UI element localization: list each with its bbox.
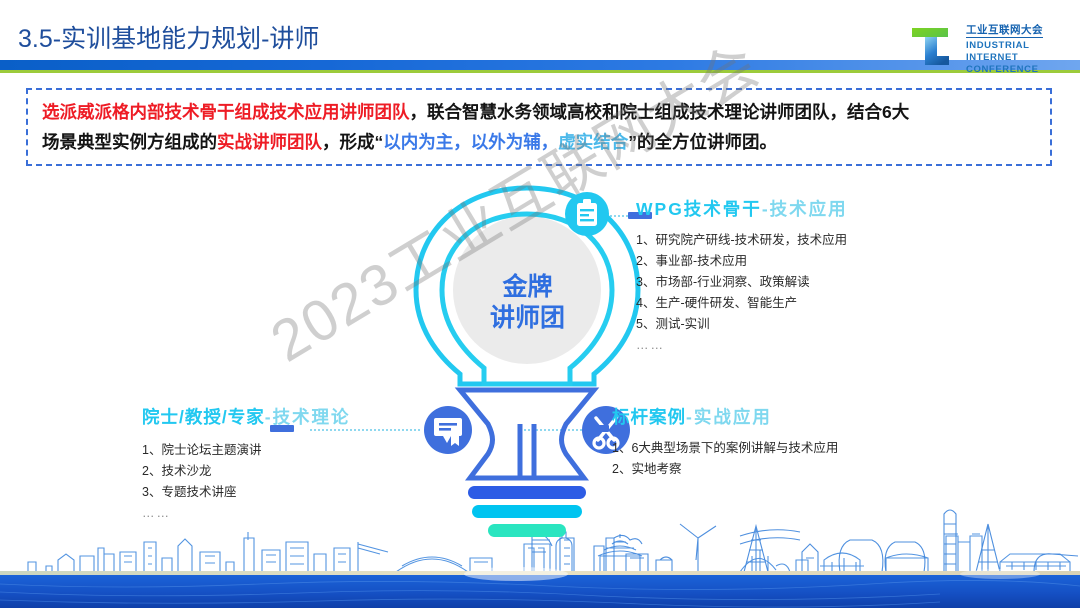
list-item: 1、6大典型场景下的案例讲解与技术应用 (612, 438, 838, 459)
list-ellipsis: …… (142, 503, 351, 524)
lightbulb-illustration (398, 178, 656, 538)
callout-text-run-4: 虚实结合 (558, 132, 628, 152)
section-expert-subtitle: 技术理论 (273, 407, 351, 427)
logo-text-block: 工业互联网大会 INDUSTRIAL INTERNET CONFERENCE (966, 20, 1043, 75)
list-ellipsis: …… (636, 335, 848, 356)
section-case-title: 标杆案例 (612, 407, 686, 427)
section-expert-list: 1、院士论坛主题演讲 2、技术沙龙 3、专题技术讲座 …… (142, 440, 351, 524)
callout-text-run-1: 实战讲师团队 (217, 132, 322, 152)
bulb-label-line-2: 讲师团 (455, 303, 600, 334)
certificate-ribbon-icon-node (424, 406, 472, 454)
slide-canvas: 3.5-实训基地能力规划-讲师 (0, 0, 1080, 608)
callout-text-run-0: 选派威派格内部技术骨干组成技术应用讲师团队 (42, 102, 410, 122)
section-wpg-subtitle: 技术应用 (770, 199, 848, 219)
callout-text-run-0: 场景典型实例方组成的 (42, 132, 217, 152)
section-wpg-title: WPG技术骨干 (636, 199, 762, 219)
callout-text-run-2: ，形成“ (322, 132, 383, 152)
section-expert-heading: 院士/教授/专家-技术理论 (142, 404, 351, 429)
section-case-list: 1、6大典型场景下的案例讲解与技术应用 2、实地考察 (612, 438, 838, 480)
industrial-internet-conference-logo-icon (908, 22, 956, 70)
callout-line-2: 场景典型实例方组成的实战讲师团队，形成“以内为主，以外为辅，虚实结合”的全方位讲… (42, 127, 1038, 157)
section-expert-title: 院士/教授/专家 (142, 407, 265, 427)
callout-text-run-1: ，联合智慧水务领域高校和院士组成技术理论讲师团队，结合6大 (410, 102, 910, 122)
section-academician-professor-expert: 院士/教授/专家-技术理论 1、院士论坛主题演讲 2、技术沙龙 3、专题技术讲座… (142, 404, 351, 524)
section-case-separator: - (686, 407, 694, 427)
list-item: 2、技术沙龙 (142, 461, 351, 482)
list-item: 1、院士论坛主题演讲 (142, 440, 351, 461)
list-item: 4、生产-硬件研发、智能生产 (636, 293, 848, 314)
bulb-label-line-1: 金牌 (455, 272, 600, 303)
logo-text-en-3: CONFERENCE (966, 64, 1043, 75)
section-case-subtitle: 实战应用 (694, 407, 772, 427)
page-title: 3.5-实训基地能力规划-讲师 (18, 19, 319, 55)
summary-callout-box: 选派威派格内部技术骨干组成技术应用讲师团队，联合智慧水务领域高校和院士组成技术理… (26, 88, 1052, 166)
section-wpg-list: 1、研究院产研线-技术研发，技术应用 2、事业部-技术应用 3、市场部-行业洞察… (636, 230, 848, 356)
bulb-center-label: 金牌 讲师团 (455, 272, 600, 334)
list-item: 2、事业部-技术应用 (636, 251, 848, 272)
section-case-heading: 标杆案例-实战应用 (612, 404, 838, 429)
section-benchmark-case: 标杆案例-实战应用 1、6大典型场景下的案例讲解与技术应用 2、实地考察 (612, 404, 838, 480)
list-item: 3、专题技术讲座 (142, 482, 351, 503)
conference-logo: 工业互联网大会 INDUSTRIAL INTERNET CONFERENCE (908, 20, 1076, 72)
section-expert-separator: - (265, 407, 273, 427)
bullet-dash-case (585, 425, 609, 432)
list-item: 2、实地考察 (612, 459, 838, 480)
callout-text-run-3: 以内为主，以外为辅， (383, 132, 558, 152)
section-wpg-separator: - (762, 199, 770, 219)
list-item: 1、研究院产研线-技术研发，技术应用 (636, 230, 848, 251)
logo-text-cn: 工业互联网大会 (966, 24, 1043, 38)
section-wpg-heading: WPG技术骨干-技术应用 (636, 196, 848, 221)
clipboard-icon-node (565, 192, 609, 236)
callout-line-1: 选派威派格内部技术骨干组成技术应用讲师团队，联合智慧水务领域高校和院士组成技术理… (42, 97, 1038, 127)
list-item: 3、市场部-行业洞察、政策解读 (636, 272, 848, 293)
callout-text-run-5: ”的全方位讲师团。 (628, 132, 777, 152)
logo-text-en-2: INTERNET (966, 52, 1043, 63)
list-item: 5、测试-实训 (636, 314, 848, 335)
section-wpg-technical-backbone: WPG技术骨干-技术应用 1、研究院产研线-技术研发，技术应用 2、事业部-技术… (636, 196, 848, 356)
logo-text-en-1: INDUSTRIAL (966, 40, 1043, 51)
